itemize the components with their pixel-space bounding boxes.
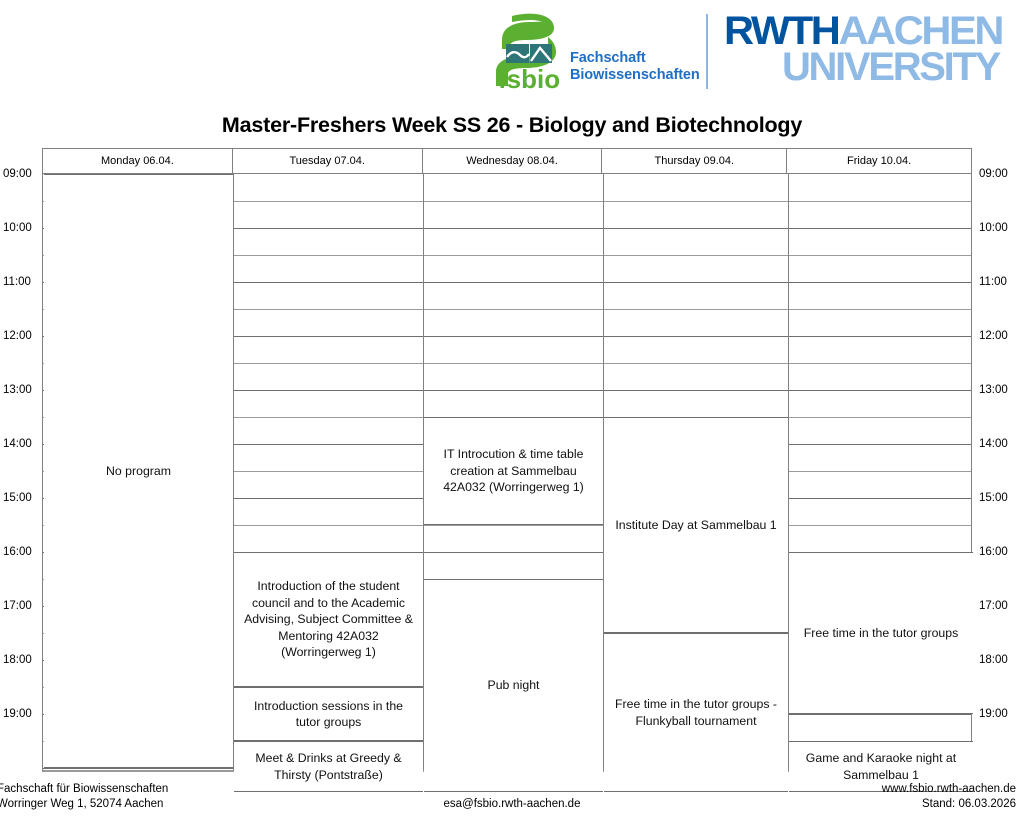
- time-label-right: 12:00: [979, 330, 1008, 342]
- schedule-event-label: No program: [106, 463, 171, 480]
- time-gutter-right: 09:0010:0011:0012:0013:0014:0015:0016:00…: [974, 148, 1018, 772]
- day-header-row: Monday 06.04.Tuesday 07.04.Wednesday 08.…: [42, 148, 972, 174]
- time-label-left: 14:00: [3, 438, 32, 450]
- logo-divider: [706, 14, 708, 89]
- time-label-left: 12:00: [3, 330, 32, 342]
- schedule-event-label: Free time in the tutor groups: [804, 625, 958, 642]
- time-label-left: 19:00: [3, 708, 32, 720]
- fsbio-subtitle-line1: Fachschaft: [570, 50, 700, 67]
- schedule-event[interactable]: IT Introcution & time table creation at …: [424, 417, 603, 525]
- schedule-event-label: Meet & Drinks at Greedy & Thirsty (Ponts…: [240, 750, 417, 783]
- time-label-left: 16:00: [3, 546, 32, 558]
- schedule-body: No programIntroduction of the student co…: [42, 174, 972, 772]
- time-gutter-left: 09:0010:0011:0012:0013:0014:0015:0016:00…: [0, 148, 44, 772]
- time-label-right: 14:00: [979, 438, 1008, 450]
- rwth-logo-line2: UNIVERSITY: [782, 47, 999, 87]
- fsbio-subtitle: Fachschaft Biowissenschaften: [570, 50, 700, 84]
- time-label-right: 11:00: [979, 276, 1007, 288]
- footer-website: www.fsbio.rwth-aachen.de: [882, 782, 1016, 797]
- time-label-right: 15:00: [979, 492, 1008, 504]
- day-header-thursday: Thursday 09.04.: [602, 149, 787, 174]
- day-header-label: Wednesday 08.04.: [466, 155, 558, 167]
- footer-org: Fachschaft für Biowissenschaften: [0, 782, 168, 797]
- footer-web-block: www.fsbio.rwth-aachen.de Stand: 06.03.20…: [882, 782, 1016, 812]
- rwth-aachen-university-logo: RWTHAACHEN UNIVERSITY: [724, 11, 999, 91]
- schedule-event[interactable]: No program: [44, 174, 233, 768]
- day-header-wednesday: Wednesday 08.04.: [423, 149, 603, 174]
- time-label-left: 15:00: [3, 492, 32, 504]
- schedule-event[interactable]: Free time in the tutor groups: [789, 552, 973, 714]
- schedule-event-label: Pub night: [488, 677, 540, 694]
- header-logo-bar: fsbio Fachschaft Biowissenschaften RWTHA…: [0, 0, 1024, 100]
- time-label-left: 09:00: [3, 168, 32, 180]
- schedule-event-label: Introduction sessions in the tutor group…: [240, 698, 417, 731]
- time-label-right: 16:00: [979, 546, 1008, 558]
- time-label-right: 17:00: [979, 600, 1008, 612]
- time-label-right: 10:00: [979, 222, 1008, 234]
- schedule-event-label: Institute Day at Sammelbau 1: [615, 517, 776, 534]
- time-label-right: 09:00: [979, 168, 1008, 180]
- fsbio-leaf-logo-icon: fsbio: [492, 12, 560, 90]
- footer-stand: Stand: 06.03.2026: [882, 797, 1016, 812]
- day-header-label: Tuesday 07.04.: [289, 155, 364, 167]
- time-label-left: 10:00: [3, 222, 32, 234]
- time-label-right: 13:00: [979, 384, 1008, 396]
- time-label-left: 11:00: [3, 276, 31, 288]
- page-footer: Fachschaft für Biowissenschaften Worring…: [0, 782, 1024, 816]
- page-title: Master-Freshers Week SS 26 - Biology and…: [0, 113, 1024, 138]
- weekly-schedule-grid: Monday 06.04.Tuesday 07.04.Wednesday 08.…: [42, 148, 972, 772]
- time-label-left: 13:00: [3, 384, 32, 396]
- schedule-event[interactable]: Institute Day at Sammelbau 1: [604, 417, 788, 633]
- schedule-event-label: Free time in the tutor groups - Flunkyba…: [610, 696, 782, 729]
- schedule-event-label: IT Introcution & time table creation at …: [430, 446, 597, 496]
- fsbio-subtitle-line2: Biowissenschaften: [570, 67, 700, 84]
- schedule-event[interactable]: Introduction of the student council and …: [234, 552, 423, 687]
- day-header-label: Thursday 09.04.: [655, 155, 735, 167]
- day-header-tuesday: Tuesday 07.04.: [233, 149, 423, 174]
- fsbio-wordmark: fsbio: [498, 64, 560, 90]
- fsbio-logo: fsbio Fachschaft Biowissenschaften: [492, 12, 692, 92]
- footer-email: esa@fsbio.rwth-aachen.de: [0, 797, 1024, 812]
- day-header-friday: Friday 10.04.: [787, 149, 972, 174]
- time-label-left: 18:00: [3, 654, 32, 666]
- time-label-right: 19:00: [979, 708, 1008, 720]
- day-header-monday: Monday 06.04.: [43, 149, 233, 174]
- schedule-event[interactable]: Free time in the tutor groups - Flunkyba…: [604, 633, 788, 792]
- day-header-label: Friday 10.04.: [847, 155, 911, 167]
- schedule-event-label: Introduction of the student council and …: [240, 578, 417, 661]
- schedule-event[interactable]: Pub night: [424, 579, 603, 792]
- schedule-event[interactable]: Introduction sessions in the tutor group…: [234, 687, 423, 741]
- day-header-label: Monday 06.04.: [101, 155, 174, 167]
- schedule-event-label: Game and Karaoke night at Sammelbau 1: [795, 750, 967, 783]
- time-label-left: 17:00: [3, 600, 32, 612]
- time-label-right: 18:00: [979, 654, 1008, 666]
